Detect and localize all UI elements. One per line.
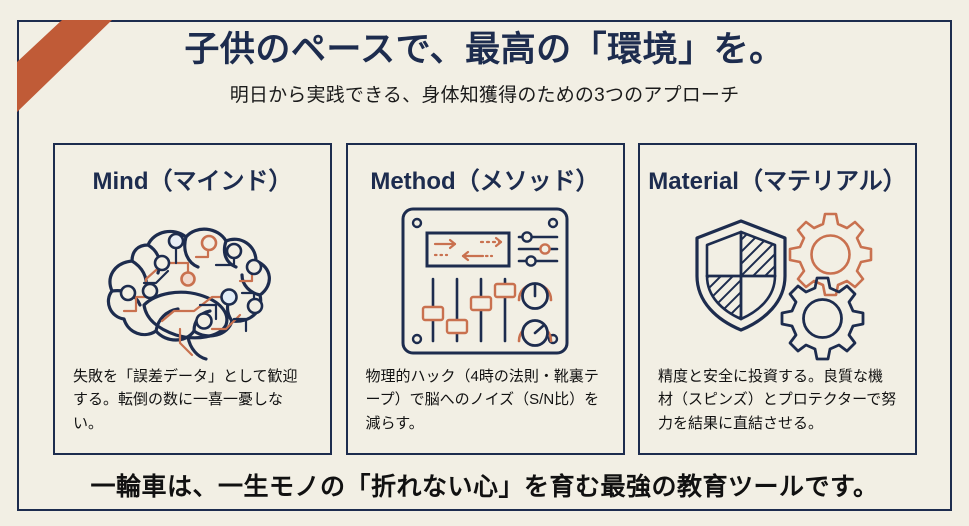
header: 子供のペースで、最高の「環境」を。 明日から実践できる、身体知獲得のための3つの… <box>17 28 952 107</box>
approach-card-group: Mind（マインド） <box>53 143 917 455</box>
page-title: 子供のペースで、最高の「環境」を。 <box>17 28 952 72</box>
card-mind-body: 失敗を「誤差データ」として歓迎する。転倒の数に一喜一憂しない。 <box>69 365 316 435</box>
footer-tagline: 一輪車は、一生モノの「折れない心」を育む最強の教育ツールです。 <box>17 467 952 503</box>
card-mind[interactable]: Mind（マインド） <box>53 143 332 455</box>
card-material-title: Material（マテリアル） <box>648 161 906 196</box>
page-subtitle: 明日から実践できる、身体知獲得のための3つのアプローチ <box>17 80 952 107</box>
card-method-title: Method（メソッド） <box>370 161 599 196</box>
card-material[interactable]: Material（マテリアル） <box>638 143 917 455</box>
control-panel-mixer-icon <box>362 198 609 363</box>
card-method-body: 物理的ハック（4時の法則・靴裏テープ）で脳へのノイズ（S/N比）を減らす。 <box>362 365 609 435</box>
shield-gears-icon <box>654 198 901 363</box>
card-method[interactable]: Method（メソッド） <box>346 143 625 455</box>
footer: 一輪車は、一生モノの「折れない心」を育む最強の教育ツールです。 <box>17 467 952 503</box>
card-material-body: 精度と安全に投資する。良質な機材（スピンズ）とプロテクターで努力を結果に直結させ… <box>654 365 901 435</box>
card-mind-title: Mind（マインド） <box>93 161 293 196</box>
infographic-slide: 子供のペースで、最高の「環境」を。 明日から実践できる、身体知獲得のための3つの… <box>0 0 969 526</box>
brain-circuit-icon <box>69 198 316 363</box>
